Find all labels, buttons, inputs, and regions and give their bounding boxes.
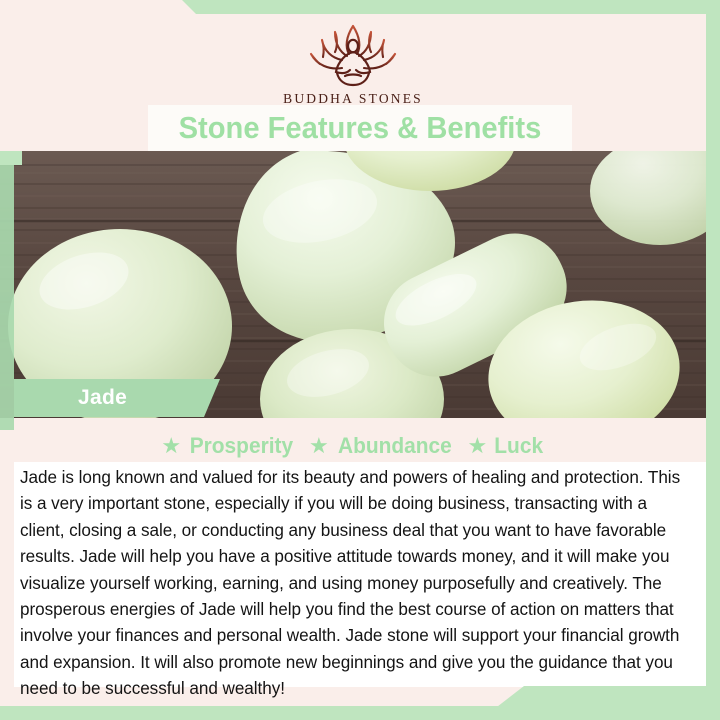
lotus-meditation-icon [297, 18, 409, 90]
stone-photo [0, 151, 706, 418]
benefits-row: ★ Prosperity ★ Abundance ★ Luck [0, 430, 706, 462]
jade-stones-illustration [0, 151, 706, 418]
stone-name-banner: Jade [14, 379, 220, 417]
description-text: Jade is long known and valued for its be… [20, 464, 684, 702]
star-icon: ★ [161, 435, 181, 457]
left-accent-stripe [0, 165, 14, 430]
page-title: Stone Features & Benefits [179, 110, 542, 146]
benefit-item: ★ Abundance [309, 433, 455, 459]
benefit-item: ★ Luck [468, 433, 545, 459]
benefit-label: Prosperity [190, 433, 293, 459]
brand-logo: BUDDHA STONES [0, 18, 706, 107]
title-banner: Stone Features & Benefits [148, 105, 572, 151]
benefit-label: Abundance [338, 433, 452, 459]
star-icon: ★ [309, 435, 329, 457]
star-icon: ★ [468, 435, 488, 457]
benefit-label: Luck [495, 433, 544, 459]
left-accent-corner [0, 151, 22, 165]
infographic-page: BUDDHA STONES Stone Features & Benefits [0, 0, 720, 720]
description-panel: Jade is long known and valued for its be… [14, 462, 706, 687]
stone-name-label: Jade [14, 386, 127, 410]
benefit-item: ★ Prosperity [161, 433, 296, 459]
